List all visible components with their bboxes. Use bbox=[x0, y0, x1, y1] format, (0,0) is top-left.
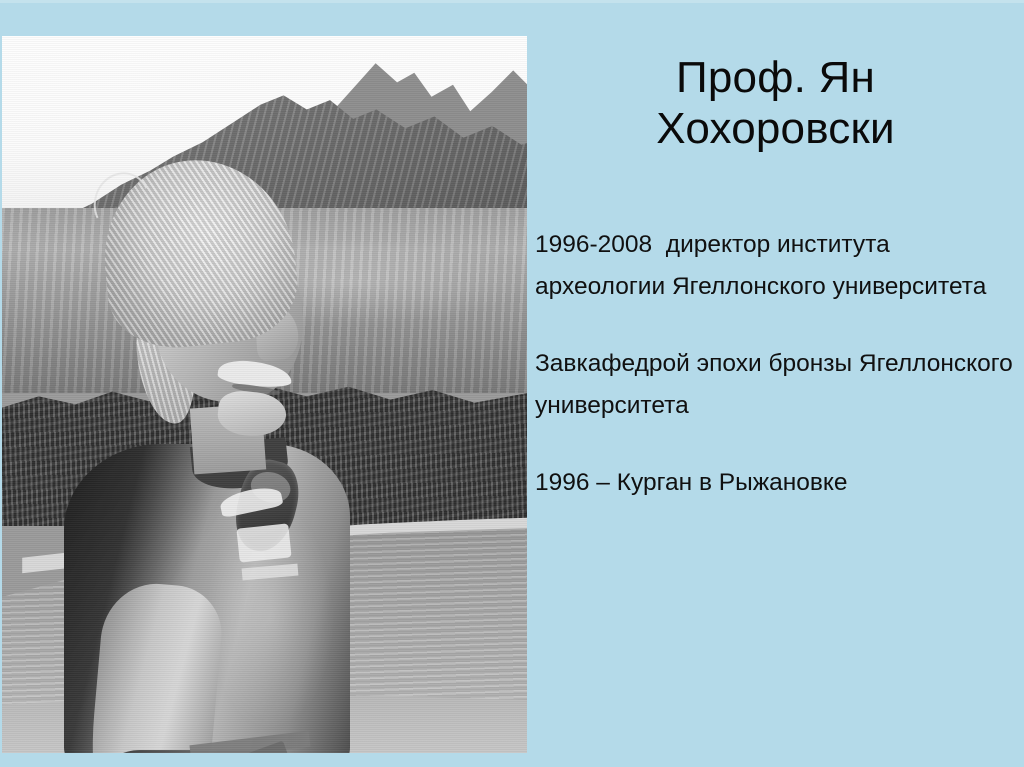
man-figure bbox=[42, 154, 372, 753]
slide-body: 1996-2008 директор института археологии … bbox=[535, 224, 1024, 504]
portrait-photo bbox=[2, 36, 527, 753]
slide-title-line-1: Проф. Ян bbox=[535, 52, 1016, 103]
slide-top-edge bbox=[0, 0, 1024, 3]
slide-title-line-2: Хохоровски bbox=[535, 103, 1016, 154]
shirt-print-main bbox=[236, 523, 291, 562]
slide: Проф. Ян Хохоровски 1996-2008 директор и… bbox=[0, 0, 1024, 767]
body-paragraph-1: 1996-2008 директор института археологии … bbox=[535, 224, 1024, 309]
slide-title: Проф. Ян Хохоровски bbox=[535, 52, 1016, 155]
body-paragraph-3: 1996 – Курган в Рыжановке bbox=[535, 462, 1024, 504]
body-paragraph-2: Завкафедрой эпохи бронзы Ягеллонского ун… bbox=[535, 343, 1024, 428]
photo-scene bbox=[2, 36, 527, 753]
text-panel: Проф. Ян Хохоровски 1996-2008 директор и… bbox=[527, 0, 1024, 767]
